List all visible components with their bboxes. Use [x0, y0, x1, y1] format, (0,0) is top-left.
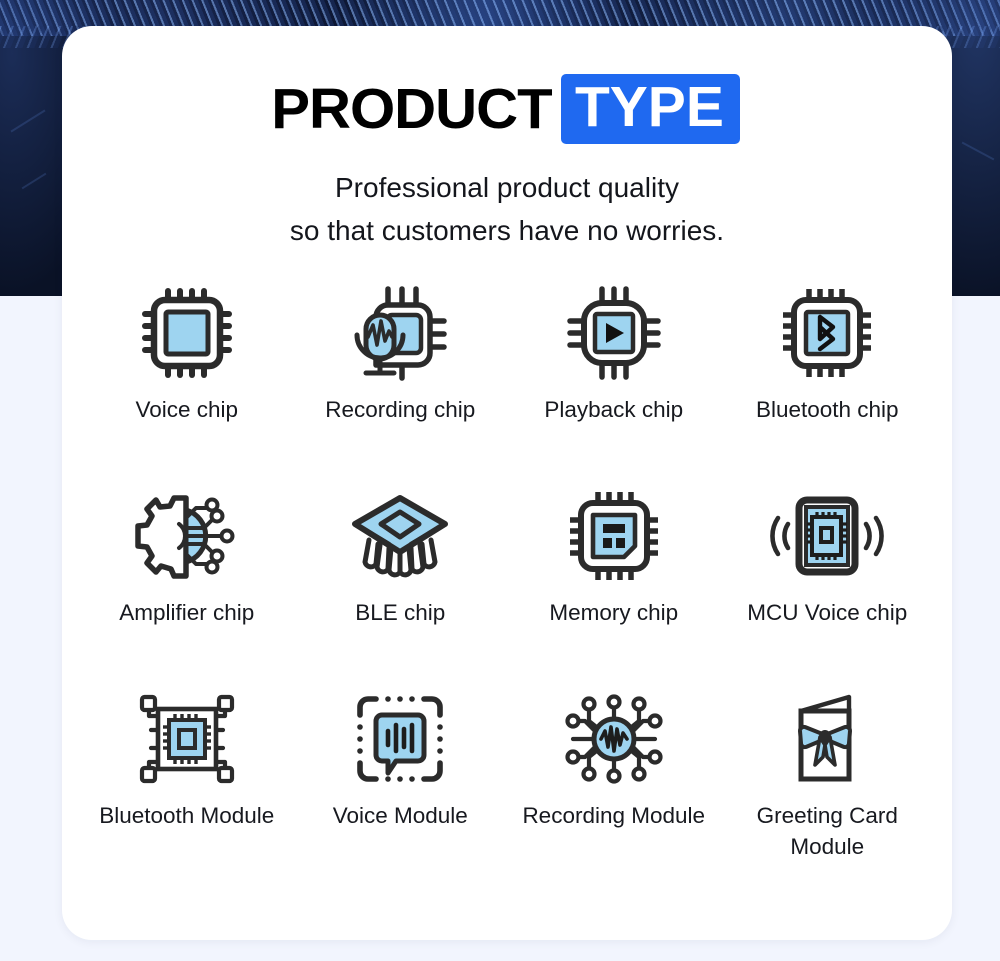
product-type-label: MCU Voice chip	[747, 597, 907, 628]
product-type-grid: Voice chip	[80, 274, 934, 883]
amplifier-chip-icon	[134, 477, 240, 595]
voice-module-icon	[348, 680, 452, 798]
product-type-label: Voice chip	[135, 394, 238, 425]
product-type-item-recording-chip[interactable]: Recording chip	[294, 274, 508, 477]
product-type-item-amplifier-chip[interactable]: Amplifier chip	[80, 477, 294, 680]
product-type-label: Recording Module	[522, 800, 705, 831]
product-type-label: Memory chip	[549, 597, 678, 628]
page-subtitle: Professional product quality so that cus…	[62, 166, 952, 252]
product-type-item-bluetooth-chip[interactable]: Bluetooth chip	[721, 274, 935, 477]
product-type-label: Greeting Card Module	[729, 800, 925, 862]
mcu-voice-chip-icon	[768, 477, 886, 595]
product-type-label: Bluetooth chip	[756, 394, 899, 425]
product-type-label: Voice Module	[333, 800, 468, 831]
product-type-item-voice-chip[interactable]: Voice chip	[80, 274, 294, 477]
greeting-card-module-icon	[779, 680, 875, 798]
product-type-label: BLE chip	[355, 597, 445, 628]
recording-module-icon	[559, 680, 669, 798]
playback-chip-icon	[562, 274, 666, 392]
page-subtitle-line-1: Professional product quality	[62, 166, 952, 209]
recording-chip-icon	[346, 274, 454, 392]
product-type-item-mcu-voice-chip[interactable]: MCU Voice chip	[721, 477, 935, 680]
product-type-page: PRODUCT TYPE Professional product qualit…	[0, 0, 1000, 961]
page-title: PRODUCT TYPE	[62, 74, 952, 144]
page-subtitle-line-2: so that customers have no worries.	[62, 209, 952, 252]
product-type-card: PRODUCT TYPE Professional product qualit…	[62, 26, 952, 940]
product-type-item-ble-chip[interactable]: BLE chip	[294, 477, 508, 680]
product-type-item-memory-chip[interactable]: Memory chip	[507, 477, 721, 680]
memory-chip-icon	[562, 477, 666, 595]
bluetooth-module-icon	[131, 680, 243, 798]
page-title-plain: PRODUCT	[271, 81, 551, 138]
product-type-label: Amplifier chip	[119, 597, 254, 628]
product-type-label: Playback chip	[544, 394, 683, 425]
product-type-item-bluetooth-module[interactable]: Bluetooth Module	[80, 680, 294, 883]
product-type-item-playback-chip[interactable]: Playback chip	[507, 274, 721, 477]
product-type-item-recording-module[interactable]: Recording Module	[507, 680, 721, 883]
ble-chip-icon	[345, 477, 455, 595]
page-title-highlight: TYPE	[561, 74, 740, 144]
product-type-item-greeting-card-module[interactable]: Greeting Card Module	[721, 680, 935, 883]
product-type-label: Recording chip	[325, 394, 475, 425]
bluetooth-chip-icon	[775, 274, 879, 392]
voice-chip-icon	[135, 274, 239, 392]
product-type-item-voice-module[interactable]: Voice Module	[294, 680, 508, 883]
product-type-label: Bluetooth Module	[99, 800, 274, 831]
